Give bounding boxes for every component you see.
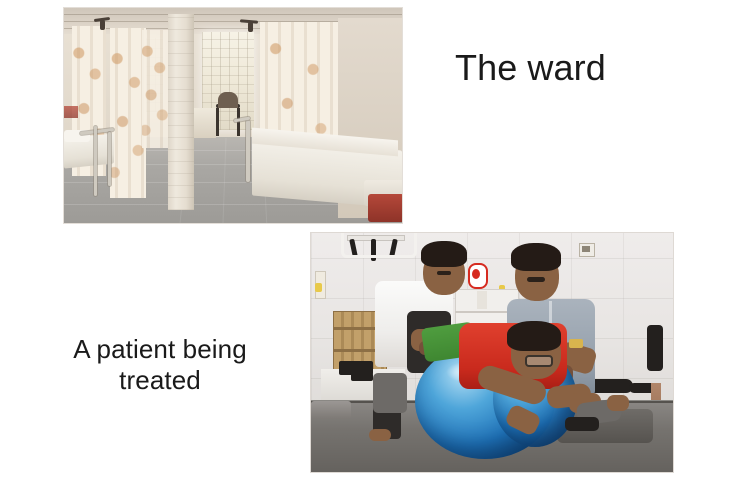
ward-scene [64,8,402,223]
therapist-left-moustache [437,271,451,275]
photo-ward[interactable] [63,7,403,224]
ward-pillar-tiles [168,14,194,210]
therapist-right-moustache [527,277,545,282]
ward-bed-leg [108,132,111,186]
caption-the-ward: The ward [455,47,606,89]
ward-chair-back [218,92,238,108]
therapy-warning-sign-dot-icon [472,269,480,279]
therapist-right-watch [569,339,583,348]
therapy-hanging-bag [647,325,663,371]
ward-red-blanket [368,194,403,222]
therapy-foam-roller [311,401,351,419]
ward-chair-leg [216,108,219,136]
slide-canvas: The ward A patient being treated [0,0,744,477]
ward-curtain [142,30,168,148]
therapist-left-hair [421,241,467,267]
ward-ceiling-fan-icon [100,20,105,30]
therapist-left-trousers [373,373,407,413]
ward-chair-leg [237,108,240,136]
caption-a-patient-being-treated: A patient being treated [40,334,280,395]
therapist-right-hair [511,243,561,271]
therapist-left-foot [369,429,391,441]
therapy-bag [351,373,373,381]
ward-red-item [64,106,78,118]
therapy-yellow-object [315,283,322,292]
ward-ceiling-fan-icon [248,22,253,32]
ward-ceiling-line [64,14,402,15]
patient-glasses-icon [525,355,553,367]
ward-side-table [194,108,216,138]
ward-pillar [168,14,194,210]
therapy-scene [311,233,673,472]
patient-shoe [565,417,599,431]
therapy-wall-bracket [341,233,417,258]
therapy-switch [582,246,590,252]
ward-iv-stand [94,126,97,196]
ward-bed-right-rail [246,120,250,182]
patient-hair [507,321,561,351]
patient-foot [607,395,629,411]
therapy-shelf-item [477,291,487,309]
photo-therapy[interactable] [310,232,674,473]
ward-curtain [110,28,146,198]
